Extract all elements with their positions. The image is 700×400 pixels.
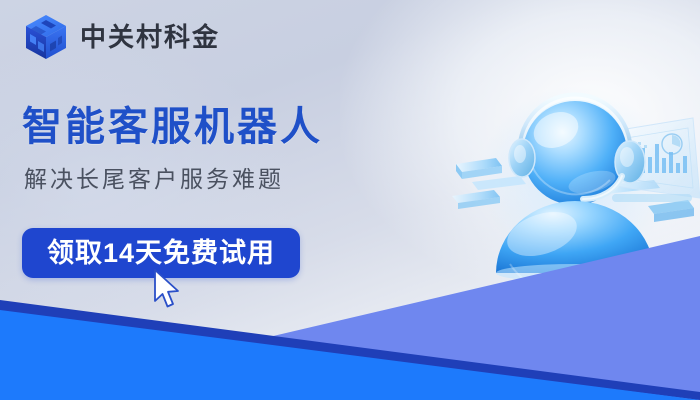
brand-name: 中关村科金 xyxy=(80,24,220,50)
body-specular-highlight xyxy=(502,204,583,264)
floating-bar-4 xyxy=(600,180,660,194)
panel-base-bar xyxy=(612,194,692,202)
glass-data-panel xyxy=(608,118,700,202)
panel-gauge-ring xyxy=(662,134,682,154)
avatar-pedestal xyxy=(485,282,681,342)
promo-banner: 中关村科金 智能客服机器人 解决长尾客户服务难题 领取14天免费试用 xyxy=(0,0,700,400)
head-specular-highlight xyxy=(528,106,583,155)
headline: 智能客服机器人 xyxy=(22,104,323,150)
diagonal-ribbons xyxy=(0,0,700,400)
headset-band xyxy=(523,98,627,150)
floating-bar-2 xyxy=(452,190,500,209)
floating-bar-5 xyxy=(648,200,694,222)
floating-bars-group xyxy=(452,158,694,222)
free-trial-cta-button[interactable]: 领取14天免费试用 xyxy=(22,228,300,278)
avatar-body xyxy=(496,201,654,273)
isometric-cube-logo-icon xyxy=(24,14,68,60)
customer-service-avatar-illustration xyxy=(450,58,700,348)
headset-right-earcup xyxy=(615,141,645,183)
floating-bar-1 xyxy=(456,158,502,179)
bright-blue-ribbon xyxy=(0,310,700,400)
headset-left-earcup xyxy=(509,139,535,177)
copy-block: 智能客服机器人 解决长尾客户服务难题 xyxy=(22,104,323,194)
pedestal-glow-slot xyxy=(510,320,586,333)
avatar-head xyxy=(523,101,627,205)
avatar-glow xyxy=(480,86,670,270)
subheadline: 解决长尾客户服务难题 xyxy=(24,166,323,194)
pedestal-detail-dots xyxy=(494,299,516,306)
navy-stripe xyxy=(0,300,700,400)
panel-dot-grid xyxy=(620,142,647,150)
brand-lockup: 中关村科金 xyxy=(24,14,220,60)
headset-mic-boom xyxy=(583,176,622,199)
panel-bar-chart xyxy=(620,144,687,173)
pedestal-base-slab xyxy=(485,308,681,342)
right-ambient-wash xyxy=(340,0,700,300)
floating-bar-3 xyxy=(472,176,526,190)
